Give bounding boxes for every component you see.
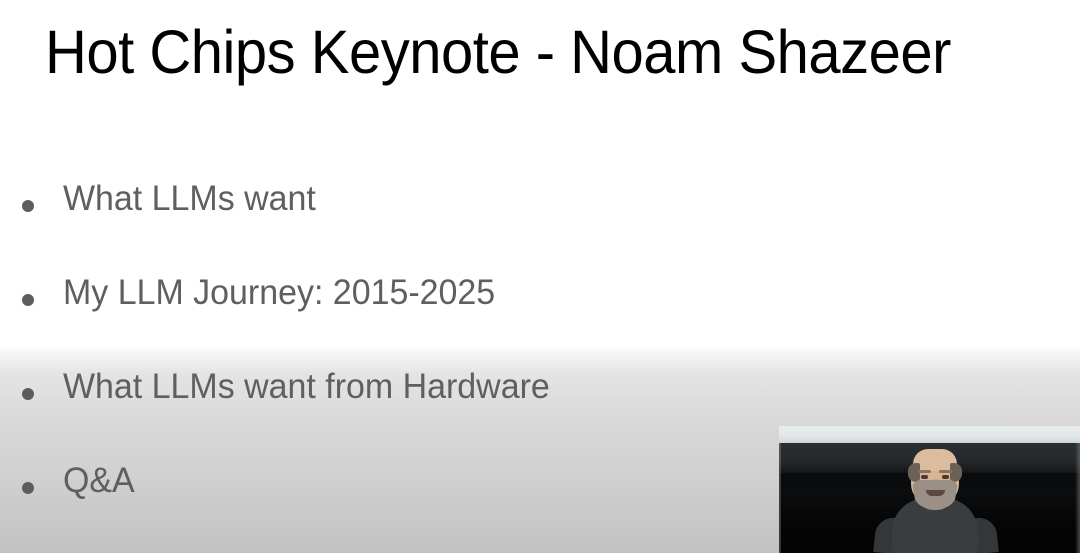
list-item: What LLMs want <box>0 176 1080 270</box>
speaker-eyebrow-left <box>918 470 931 473</box>
list-item-label: What LLMs want from Hardware <box>63 364 550 410</box>
list-item: My LLM Journey: 2015-2025 <box>0 270 1080 364</box>
bullet-dot-icon <box>22 388 34 400</box>
speaker-eye-right <box>942 475 949 479</box>
video-top-band <box>779 426 1080 443</box>
bullet-dot-icon <box>22 294 34 306</box>
video-edge-right <box>1075 443 1080 553</box>
page-title: Hot Chips Keynote - Noam Shazeer <box>45 16 986 88</box>
presentation-slide: Hot Chips Keynote - Noam Shazeer What LL… <box>0 0 1080 553</box>
speaker-eyebrow-right <box>939 470 952 473</box>
list-item-label: My LLM Journey: 2015-2025 <box>63 270 495 316</box>
bullet-dot-icon <box>22 200 34 212</box>
speaker-eye-left <box>921 475 928 479</box>
bullet-dot-icon <box>22 482 34 494</box>
list-item-label: Q&A <box>63 458 135 504</box>
speaker-mouth <box>926 490 945 496</box>
speaker-video-inset[interactable] <box>779 426 1080 553</box>
video-edge-left <box>779 443 781 553</box>
list-item-label: What LLMs want <box>63 176 316 222</box>
